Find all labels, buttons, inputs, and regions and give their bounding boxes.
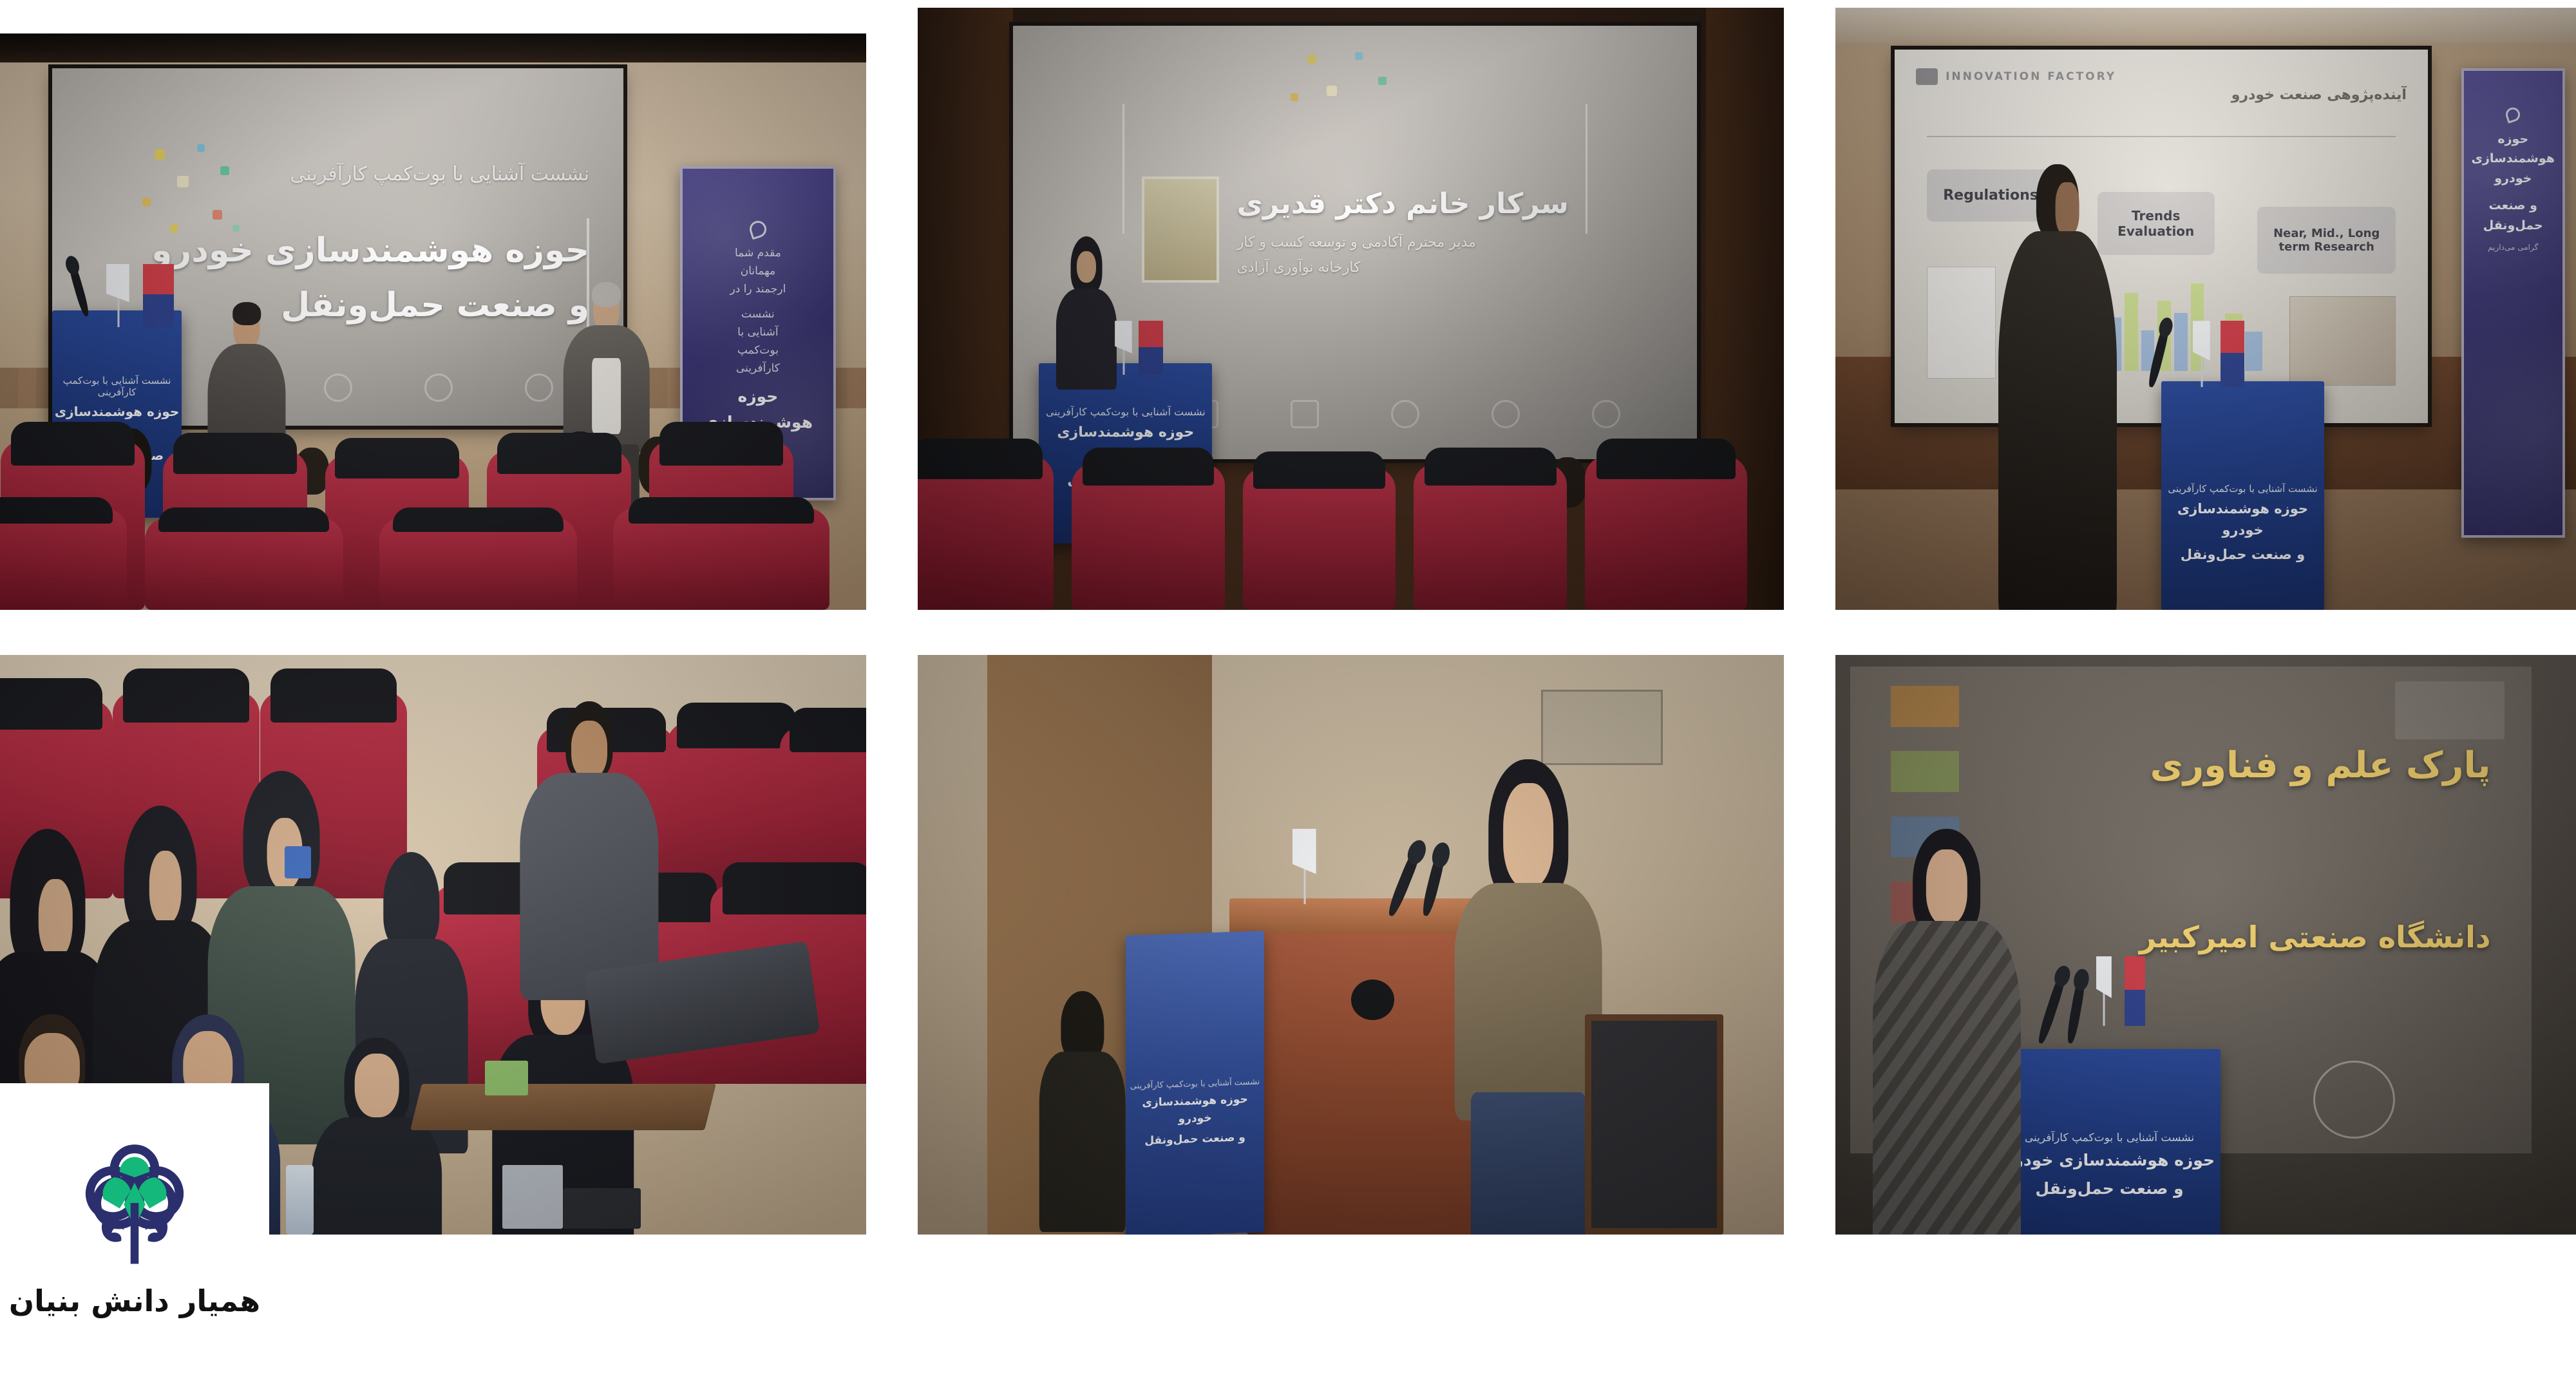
rollup-footer-3: گرامی می‌داریم [2488, 243, 2538, 252]
brand-badge: همیار دانش بنیان [0, 1083, 269, 1373]
auditorium-scene-1: نشست آشنایی با بوت‌کمپ کارآفرینی حوزه هو… [0, 33, 866, 610]
speaker-person-4 [1998, 164, 2117, 610]
auditorium-scene-3: INNOVATION FACTORY آینده‌پژوهی صنعت خودر… [1835, 8, 2576, 610]
podium-6: نشست آشنایی با بوت‌کمپ کارآفرینی حوزه هو… [1998, 1049, 2221, 1235]
photo-card-2[interactable]: سرکار خانم دکتر قدیری مدیر محترم آکادمی … [918, 8, 1784, 610]
equipment-case [502, 1165, 563, 1229]
rollup-title-3b: و صنعت حمل‌ونقل [2483, 196, 2543, 235]
photo-card-1[interactable]: نشست آشنایی با بوت‌کمپ کارآفرینی حوزه هو… [0, 33, 866, 610]
ceiling [0, 33, 866, 62]
speaker-person-3 [1056, 236, 1117, 381]
podium-title-3a: حوزه هوشمندسازی خودرو [2161, 498, 2324, 540]
slide-sub-2b: کارخانه نوآوری آزادی [1237, 260, 1361, 276]
rollup-welcome-1a: مقدم شما مهمانان ارجمند را در [726, 244, 790, 298]
event-mark-icon [748, 218, 769, 240]
slide-graphic-confetti [132, 140, 258, 261]
podium-speaker-hole [1351, 980, 1394, 1020]
slide-header-3: آینده‌پژوهی صنعت خودرو [2231, 87, 2407, 103]
table-flag-8 [2095, 956, 2114, 1026]
slide-image-thumb [2289, 296, 2396, 386]
slide-title-6b: دانشگاه صنعتی امیرکبیر [2139, 920, 2491, 954]
slide-header-1: نشست آشنایی با بوت‌کمپ کارآفرینی [290, 163, 589, 185]
table-flag-5 [2191, 321, 2213, 387]
rollup-welcome-1b: نشست آشنایی با بوت‌کمپ کارآفرینی [726, 305, 790, 377]
wall-vent [1541, 690, 1662, 765]
speaker-person-6 [1873, 829, 2021, 1235]
slide-brand-3: INNOVATION FACTORY [1916, 68, 2116, 85]
photo-gallery: نشست آشنایی با بوت‌کمپ کارآفرینی حوزه هو… [0, 0, 2576, 1373]
side-chair [1585, 1014, 1723, 1235]
speaker-person-5 [1455, 759, 1602, 1235]
podium-title-6a: حوزه هوشمندسازی خودرو [2004, 1148, 2215, 1173]
auditorium-scene-5: نشست آشنایی با بوت‌کمپ کارآفرینی حوزه هو… [918, 655, 1784, 1235]
podium-title-5b: و صنعت حمل‌ونقل [1144, 1129, 1245, 1150]
podium-sub-5: نشست آشنایی با بوت‌کمپ کارآفرینی [1130, 1077, 1260, 1092]
rollup-banner-3: حوزه هوشمندسازی خودرو و صنعت حمل‌ونقل گر… [2461, 68, 2565, 538]
photo-card-6[interactable]: پارک علم و فناوری دانشگاه صنعتی امیرکبیر… [1835, 655, 2576, 1235]
table-flag-3 [1113, 321, 1135, 375]
olympic-rings-icon [2313, 1061, 2395, 1139]
equipment-box [563, 1188, 641, 1229]
photo-card-5[interactable]: نشست آشنایی با بوت‌کمپ کارآفرینی حوزه هو… [918, 655, 1784, 1235]
brand-mark-icon [1916, 68, 1938, 85]
seating-area-1 [0, 368, 866, 610]
audience-person-10 [1039, 991, 1126, 1223]
podium-title-3b: و صنعت حمل‌ونقل [2181, 544, 2305, 565]
table-flag-4 [1139, 321, 1163, 375]
slide-title-1b: و صنعت حمل‌ونقل [281, 280, 589, 330]
brand-name: همیار دانش بنیان [9, 1283, 260, 1318]
notebook-icon [485, 1061, 528, 1095]
seating-area-2 [918, 417, 1784, 610]
slide-sub-2a: مدیر محترم آکادمی و توسعه کسب و کار [1237, 234, 1476, 251]
auditorium-scene-2: سرکار خانم دکتر قدیری مدیر محترم آکادمی … [918, 8, 1784, 610]
table-flag-7 [1290, 829, 1320, 904]
podium-banner-5: نشست آشنایی با بوت‌کمپ کارآفرینی حوزه هو… [1126, 931, 1264, 1235]
tree-logo-icon [67, 1138, 202, 1267]
podium-sub-3: نشست آشنایی با بوت‌کمپ کارآفرینی [2168, 483, 2317, 495]
slide-brand-label: INNOVATION FACTORY [1946, 70, 2116, 83]
speaker-portrait [1142, 176, 1219, 283]
slide-graphic-confetti [1280, 48, 1417, 121]
photo-card-3[interactable]: INNOVATION FACTORY آینده‌پژوهی صنعت خودر… [1835, 8, 2576, 610]
podium-sub-6: نشست آشنایی با بوت‌کمپ کارآفرینی [2025, 1132, 2194, 1144]
projection-screen-3: INNOVATION FACTORY آینده‌پژوهی صنعت خودر… [1895, 50, 2428, 423]
side-table [410, 1084, 716, 1130]
slide-title-2: سرکار خانم دکتر قدیری [1237, 183, 1569, 225]
ceiling [1835, 8, 2576, 44]
podium-sub-2: نشست آشنایی با بوت‌کمپ کارآفرینی [1046, 406, 1206, 418]
audience-person-7 [312, 1037, 442, 1235]
podium-3: نشست آشنایی با بوت‌کمپ کارآفرینی حوزه هو… [2161, 381, 2324, 610]
table-flag-1 [104, 264, 133, 327]
auditorium-scene-6: پارک علم و فناوری دانشگاه صنعتی امیرکبیر… [1835, 655, 2576, 1235]
slide-table [1927, 267, 1996, 379]
slide-corner-image [2395, 681, 2504, 740]
table-flag-6 [2221, 321, 2244, 387]
slide-box-research: Near, Mid., Long term Research [2257, 207, 2396, 274]
podium-title-5a: حوزه هوشمندسازی خودرو [1126, 1091, 1264, 1130]
rollup-title-3a: حوزه هوشمندسازی خودرو [2472, 129, 2555, 188]
event-mark-icon [2504, 106, 2522, 124]
water-bottle-icon [286, 1165, 314, 1235]
table-flag-2 [143, 264, 174, 327]
slide-title-6a: پارک علم و فناوری [2150, 744, 2491, 786]
table-flag-9 [2125, 956, 2145, 1026]
face-mask-icon [285, 846, 311, 878]
podium-title-6b: و صنعت حمل‌ونقل [2035, 1177, 2183, 1202]
